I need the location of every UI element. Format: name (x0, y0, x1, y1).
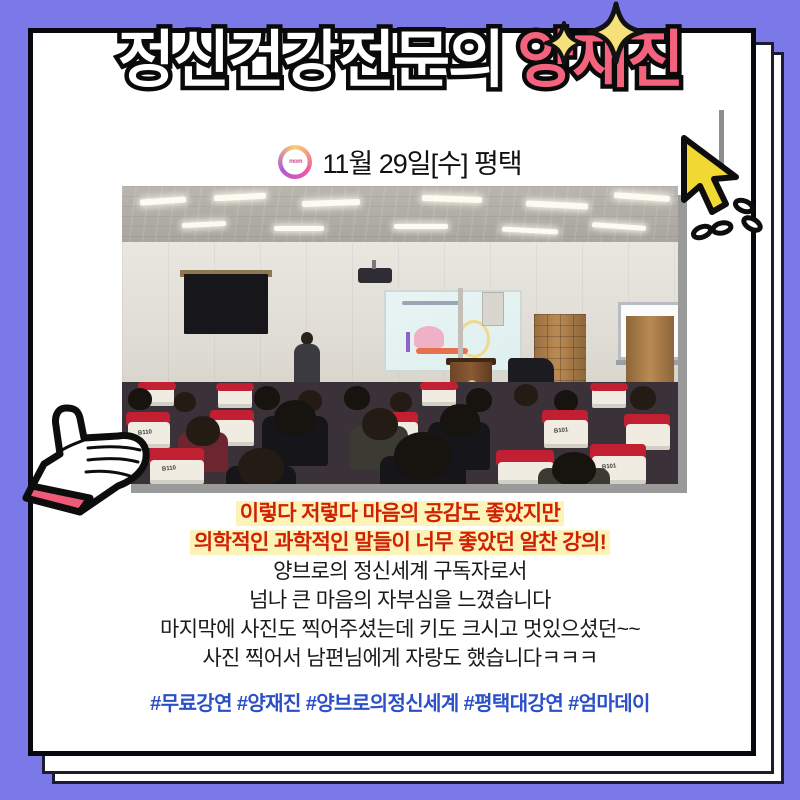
review-line: 마지막에 사진도 찍어주셨는데 키도 크시고 멋있으셨던~~ (60, 616, 740, 645)
brand-logo-label: mom (289, 159, 302, 165)
poster-stage: 정신건강전문의 양재진 mom 11월 29일[수] 평택 (0, 0, 800, 800)
hashtag-list: #무료강연 #양재진 #양브로의정신세계 #평택대강연 #엄마데이 (60, 687, 740, 716)
photo-curtain (184, 274, 268, 334)
photo-wall-speaker (482, 292, 504, 326)
review-line-text: 이렇다 저렇다 마음의 공감도 좋았지만 (236, 501, 564, 526)
lecture-hall-photo: B110 B101 B110 (122, 186, 678, 484)
review-line: 의학적인 과학적인 말들이 너무 좋았던 알찬 강의! (60, 529, 740, 558)
cursor-arrow-icon (672, 132, 782, 242)
photo-ceiling-grid (122, 186, 678, 248)
sparkle-small-icon (543, 20, 585, 66)
event-date-location: 11월 29일[수] 평택 (322, 142, 521, 181)
review-line: 사진 찍어서 남편님에게 자랑도 했습니다ㅋㅋㅋ (60, 645, 740, 674)
review-text-block: 이렇다 저렇다 마음의 공감도 좋았지만 의학적인 과학적인 말들이 너무 좋았… (60, 500, 740, 716)
brand-logo-icon: mom (278, 145, 312, 179)
photo-door-right (626, 316, 674, 392)
review-line: 넘나 큰 마음의 자부심을 느꼈습니다 (60, 587, 740, 616)
photo-audience-seating: B110 B101 B110 (122, 382, 678, 484)
sparkle-large-icon (586, 0, 646, 66)
review-line-text: 의학적인 과학적인 말들이 너무 좋았던 알찬 강의! (190, 530, 610, 555)
pointing-hand-icon (14, 394, 164, 520)
review-line: 양브로의 정신세계 구독자로서 (60, 558, 740, 587)
photo-projector (358, 268, 392, 283)
